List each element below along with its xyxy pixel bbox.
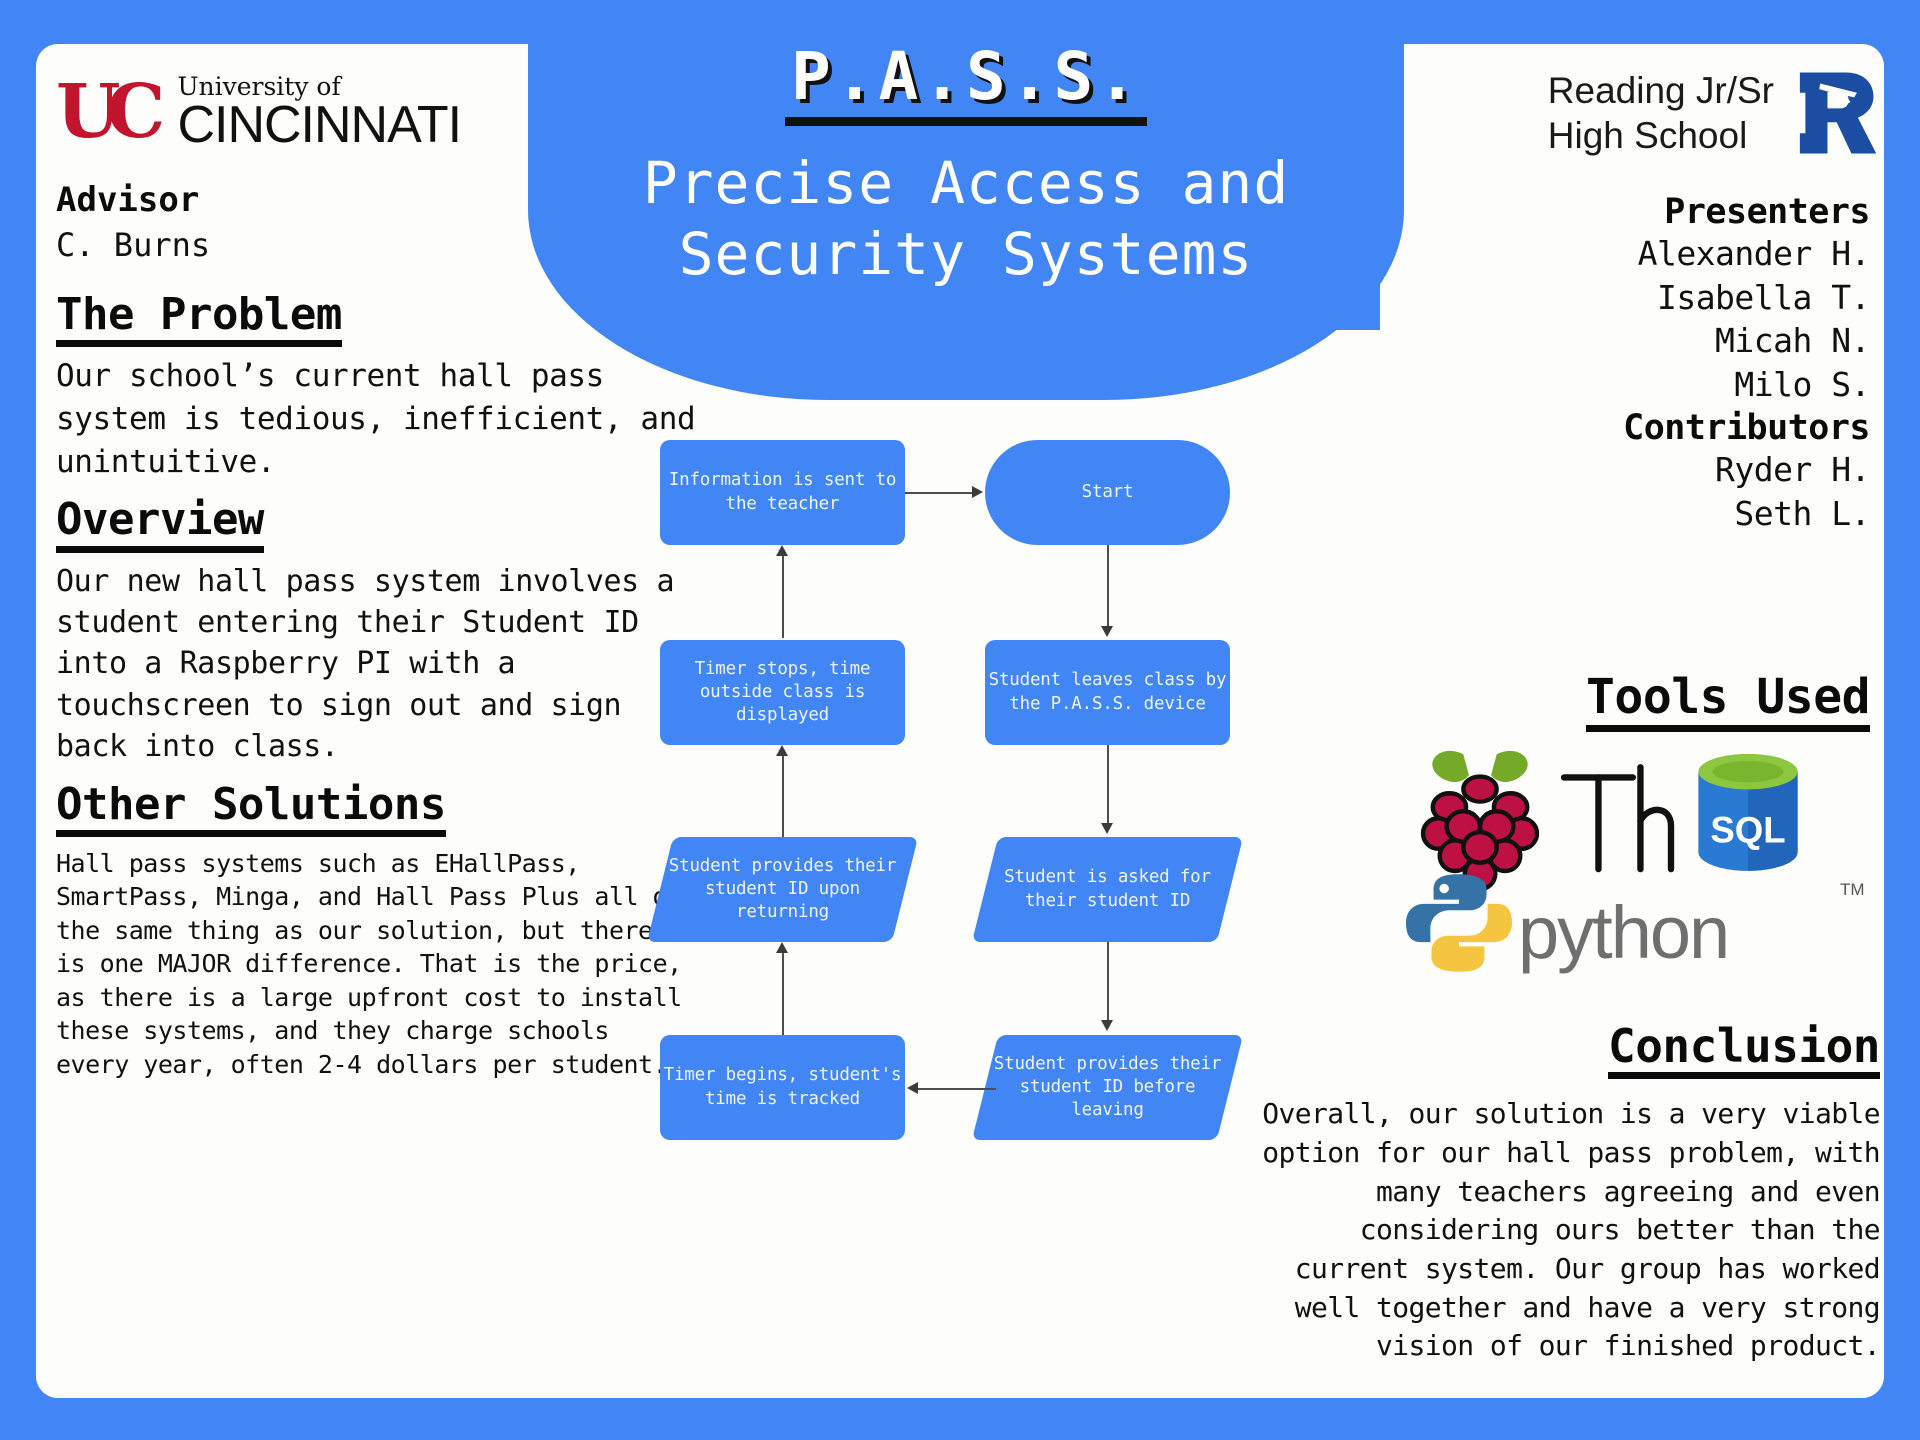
section-heading-overview: Overview [56,495,264,552]
flow-node-timer-begins: Timer begins, student's time is tracked [660,1035,905,1140]
flow-node-label: Student provides their student ID before… [985,1035,1230,1140]
section-body-conclusion: Overall, our solution is a very viable o… [1230,1095,1880,1365]
flow-node-info-teacher: Information is sent to the teacher [660,440,905,545]
arrow-head-icon [1101,823,1113,834]
flow-edge-info-to-start [905,492,973,494]
flowchart: Information is sent to the teacher Start… [660,440,1280,1180]
school-name-text: Reading Jr/Sr High School [1548,68,1774,158]
arrow-head-icon [972,486,983,498]
flow-edge-start-to-leaves [1107,545,1109,627]
advisor-label: Advisor [56,180,696,220]
uc-university-of-text: University of [177,74,461,99]
flow-node-asked-for-id: Student is asked for their student ID [985,837,1230,942]
python-logo-icon [1406,870,1512,976]
advisor-name: C. Burns [56,226,696,264]
presenter-name: Alexander H. [1400,232,1870,276]
section-body-problem: Our school’s current hall pass system is… [56,355,696,483]
flow-edge-asked-to-before-leaving [1107,942,1109,1022]
sql-database-logo-icon: SQL [1688,748,1808,878]
poster-canvas: UC University of CINCINNATI P.A.S.S. Pre… [0,0,1920,1440]
school-name-line-1: Reading Jr/Sr [1548,68,1774,113]
arrow-head-icon [1101,626,1113,637]
trademark-symbol: TM [1840,880,1865,900]
flow-node-id-before-leaving: Student provides their student ID before… [985,1035,1230,1140]
flow-node-start: Start [985,440,1230,545]
arrow-head-icon [907,1082,918,1094]
tools-logo-row: SQL python TM [1400,742,1870,987]
section-heading-conclusion: Conclusion [1608,1020,1880,1079]
flow-node-id-upon-returning: Student provides their student ID upon r… [660,837,905,942]
flow-node-timer-stops: Timer stops, time outside class is displ… [660,640,905,745]
svg-text:SQL: SQL [1710,809,1785,850]
uc-cincinnati-text: CINCINNATI [177,99,461,151]
left-column: Advisor C. Burns The Problem Our school’… [56,180,696,1081]
uc-monogram-icon: UC [56,75,151,149]
flow-node-label: Student is asked for their student ID [985,837,1230,942]
section-heading-other-solutions: Other Solutions [56,780,446,837]
tools-used-block: Tools Used [1400,670,1870,987]
school-logo: Reading Jr/Sr High School [1470,58,1880,168]
school-name-line-2: High School [1548,113,1774,158]
thonny-logo-icon [1550,752,1680,892]
arrow-head-icon [776,942,788,953]
presenters-heading: Presenters [1400,192,1870,232]
flow-edge-leaves-to-asked [1107,745,1109,825]
contributors-heading: Contributors [1400,408,1870,448]
section-body-other-solutions: Hall pass systems such as EHallPass, Sma… [56,847,696,1082]
flow-node-label: Student provides their student ID upon r… [660,837,905,942]
flow-edge-timer-to-returning [782,952,784,1035]
flow-edge-before-leaving-to-timer [918,1088,996,1090]
presenter-name: Micah N. [1400,319,1870,363]
presenter-name: Isabella T. [1400,276,1870,320]
contributor-name: Ryder H. [1400,448,1870,492]
arrow-head-icon [1101,1020,1113,1031]
python-wordmark: python [1518,890,1728,975]
conclusion-block: Conclusion Overall, our solution is a ve… [1230,1020,1880,1366]
contributor-name: Seth L. [1400,492,1870,536]
presenter-name: Milo S. [1400,363,1870,407]
arrow-head-icon [776,545,788,556]
flow-edge-returning-to-timer-stops [782,755,784,837]
section-heading-problem: The Problem [56,290,342,347]
right-column: Presenters Alexander H. Isabella T. Mica… [1400,192,1870,535]
flow-node-student-leaves: Student leaves class by the P.A.S.S. dev… [985,640,1230,745]
arrow-head-icon [776,745,788,756]
uc-wordmark: University of CINCINNATI [177,74,461,151]
reading-r-trident-icon [1786,67,1880,159]
page-title: P.A.S.S. [785,42,1147,126]
section-heading-tools-used: Tools Used [1586,670,1870,732]
uc-logo: UC University of CINCINNATI [56,62,526,162]
flow-edge-timer-stops-to-info [782,555,784,638]
section-body-overview: Our new hall pass system involves a stud… [56,561,696,768]
